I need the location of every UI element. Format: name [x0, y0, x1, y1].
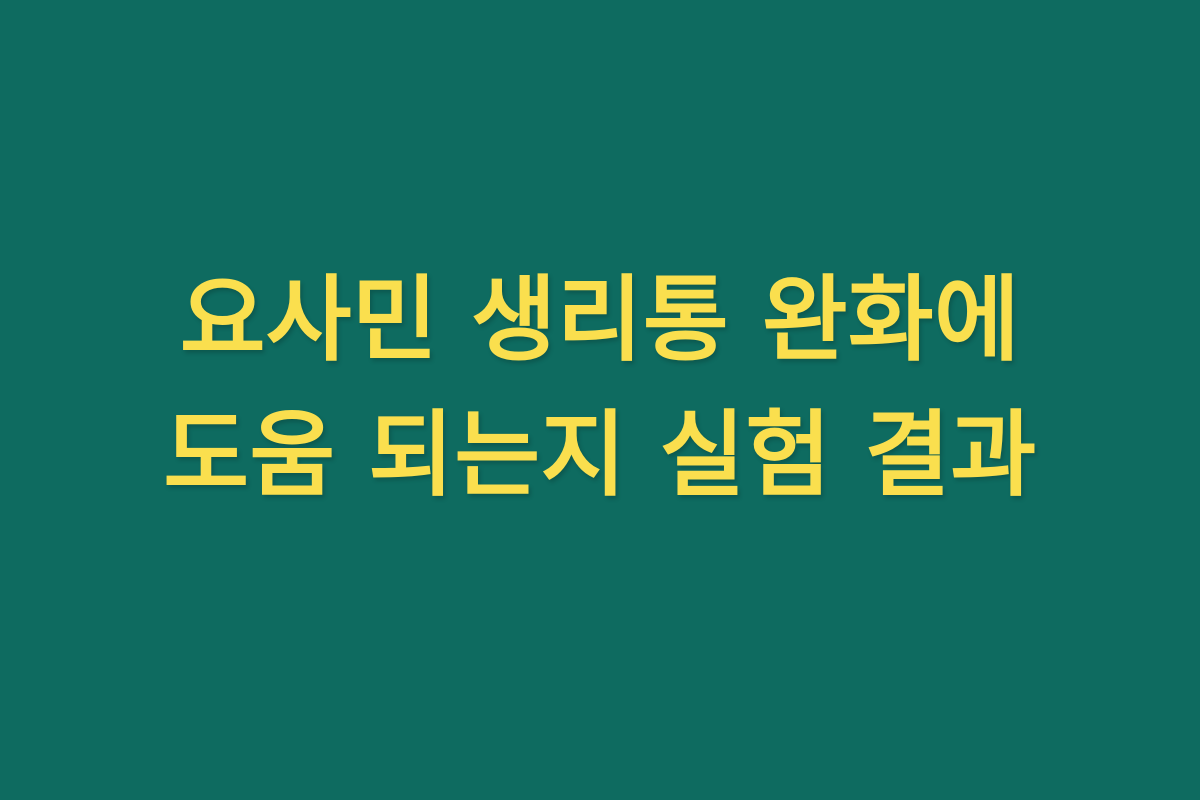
headline-block: 요사민 생리통 완화에 도움 되는지 실험 결과 — [100, 253, 1100, 523]
headline-line-2: 도움 되는지 실험 결과 — [100, 388, 1100, 523]
text-banner: 요사민 생리통 완화에 도움 되는지 실험 결과 — [0, 0, 1200, 800]
headline-line-1: 요사민 생리통 완화에 — [100, 253, 1100, 388]
